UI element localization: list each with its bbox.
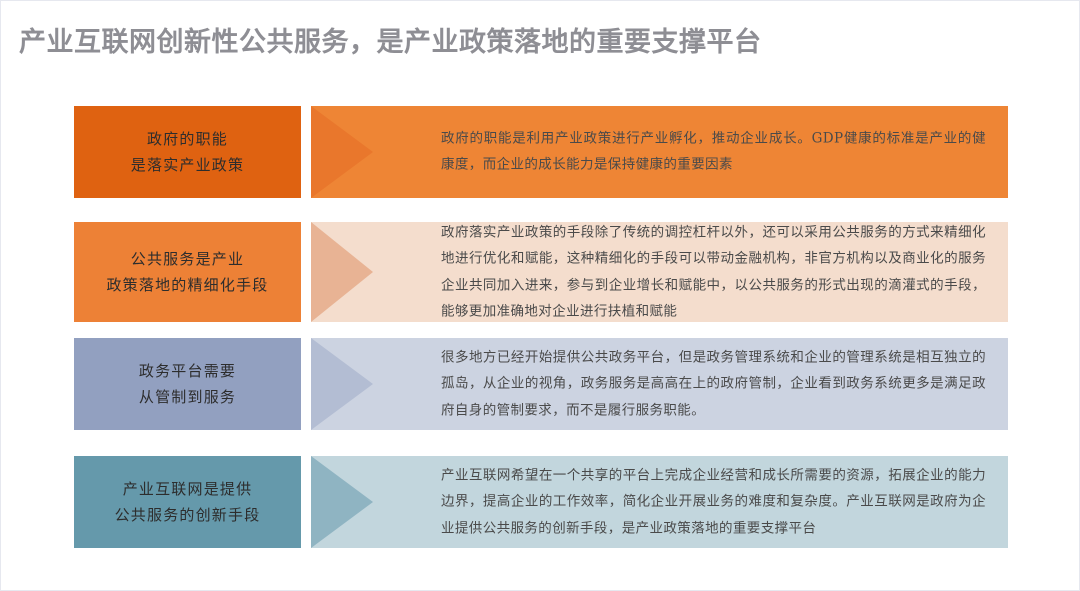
- row-label-text: 公共服务是产业 政策落地的精细化手段: [106, 246, 268, 299]
- chevron-right-icon: [311, 338, 373, 430]
- process-row[interactable]: 政府落实产业政策的手段除了传统的调控杠杆以外，还可以采用公共服务的方式来精细化地…: [74, 222, 1008, 322]
- process-row[interactable]: 产业互联网希望在一个共享的平台上完成企业经营和成长所需要的资源，拓展企业的能力边…: [74, 456, 1008, 548]
- chevron-right-icon: [311, 222, 373, 322]
- slide-canvas: 产业互联网创新性公共服务，是产业政策落地的重要支撑平台 政府的职能是利用产业政策…: [0, 0, 1080, 591]
- row-label-text: 政务平台需要 从管制到服务: [139, 358, 236, 411]
- row-body-panel: 很多地方已经开始提供公共政务平台，但是政务管理系统和企业的管理系统是相互独立的孤…: [311, 338, 1008, 430]
- row-label-box[interactable]: 政务平台需要 从管制到服务: [74, 338, 301, 430]
- row-label-text: 产业互联网是提供 公共服务的创新手段: [115, 476, 261, 529]
- process-row[interactable]: 很多地方已经开始提供公共政务平台，但是政务管理系统和企业的管理系统是相互独立的孤…: [74, 338, 1008, 430]
- process-row[interactable]: 政府的职能是利用产业政策进行产业孵化，推动企业成长。GDP健康的标准是产业的健康…: [74, 106, 1008, 198]
- row-body-text: 产业互联网希望在一个共享的平台上完成企业经营和成长所需要的资源，拓展企业的能力边…: [441, 463, 986, 542]
- page-title: 产业互联网创新性公共服务，是产业政策落地的重要支撑平台: [19, 20, 762, 59]
- row-body-text: 政府的职能是利用产业政策进行产业孵化，推动企业成长。GDP健康的标准是产业的健康…: [441, 126, 986, 179]
- row-label-text: 政府的职能 是落实产业政策: [131, 126, 244, 179]
- row-label-box[interactable]: 公共服务是产业 政策落地的精细化手段: [74, 222, 301, 322]
- row-label-box[interactable]: 产业互联网是提供 公共服务的创新手段: [74, 456, 301, 548]
- chevron-right-icon: [311, 456, 373, 548]
- row-body-panel: 政府的职能是利用产业政策进行产业孵化，推动企业成长。GDP健康的标准是产业的健康…: [311, 106, 1008, 198]
- row-body-text: 政府落实产业政策的手段除了传统的调控杠杆以外，还可以采用公共服务的方式来精细化地…: [441, 219, 986, 324]
- row-body-panel: 产业互联网希望在一个共享的平台上完成企业经营和成长所需要的资源，拓展企业的能力边…: [311, 456, 1008, 548]
- row-body-panel: 政府落实产业政策的手段除了传统的调控杠杆以外，还可以采用公共服务的方式来精细化地…: [311, 222, 1008, 322]
- chevron-right-icon: [311, 106, 373, 198]
- row-label-box[interactable]: 政府的职能 是落实产业政策: [74, 106, 301, 198]
- row-body-text: 很多地方已经开始提供公共政务平台，但是政务管理系统和企业的管理系统是相互独立的孤…: [441, 345, 986, 424]
